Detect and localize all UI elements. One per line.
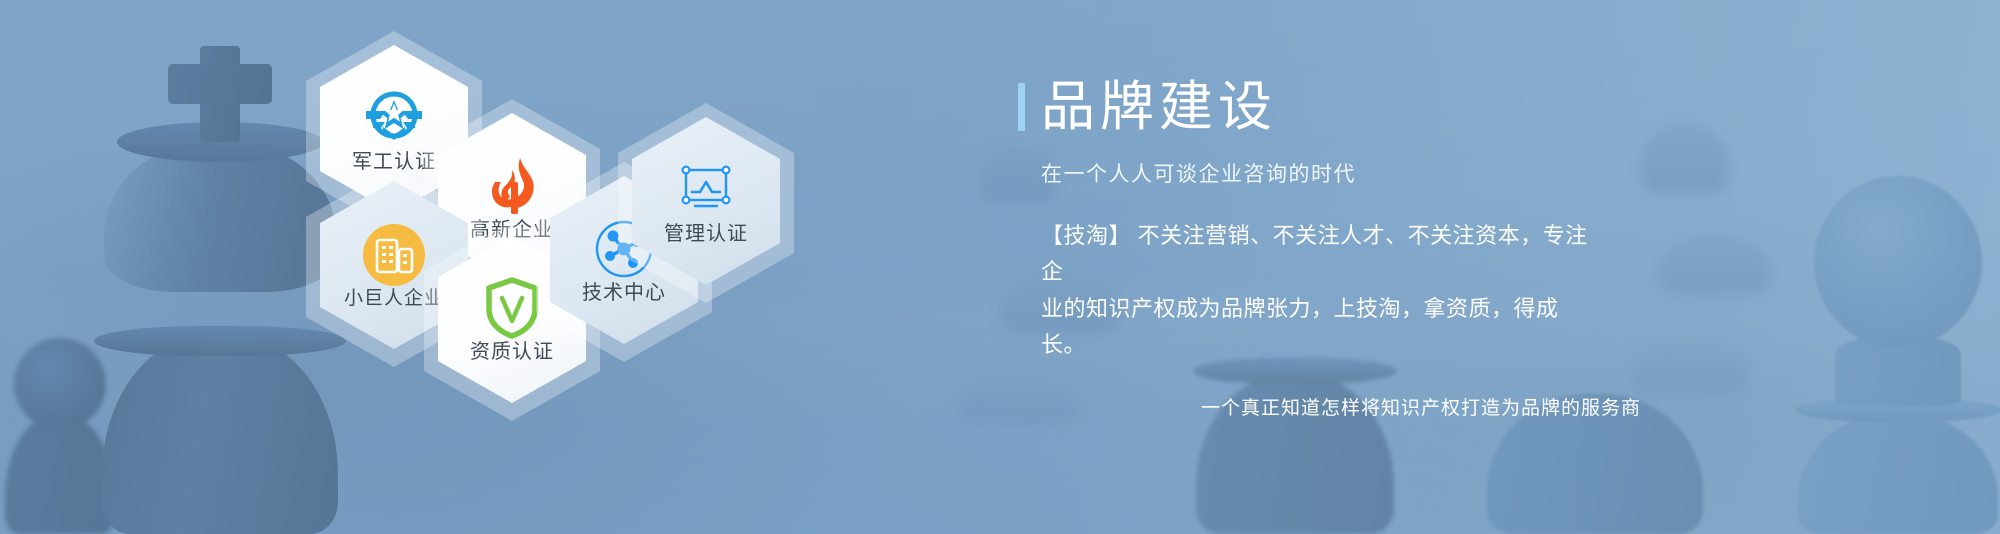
brand-building-banner: 军工认证 高新企业: [0, 0, 2000, 534]
hex-label-qualification: 资质认证: [470, 342, 554, 362]
hex-label-management: 管理认证: [664, 224, 748, 244]
banner-subtitle: 在一个人人可谈企业咨询的时代: [1041, 158, 1938, 188]
title-row: 品牌建设: [1018, 80, 1938, 134]
orange-flame-torch-icon: [480, 154, 544, 218]
banner-tagline: 一个真正知道怎样将知识产权打造为品牌的服务商: [1041, 393, 1641, 420]
certification-hexagon-cluster: 军工认证 高新企业: [0, 0, 940, 534]
banner-text-block: 品牌建设 在一个人人可谈企业咨询的时代 【技淘】 不关注营销、不关注人才、不关注…: [1018, 0, 1938, 420]
green-shield-v-icon: [480, 276, 544, 340]
page-title: 品牌建设: [1041, 80, 1277, 134]
yellow-circle-buildings-icon: [362, 223, 426, 287]
hex-label-tech-center: 技术中心: [582, 283, 666, 303]
body-line-2: 业的知识产权成为品牌张力，上技淘，拿资质，得成长。: [1041, 291, 1601, 364]
body-line-1: 【技淘】 不关注营销、不关注人才、不关注资本，专注企: [1041, 218, 1601, 291]
banner-body-text: 【技淘】 不关注营销、不关注人才、不关注资本，专注企 业的知识产权成为品牌张力，…: [1041, 218, 1601, 363]
title-accent-bar: [1018, 83, 1025, 131]
military-wing-star-emblem-icon: [362, 86, 426, 150]
blue-chart-frame-certificate-icon: [674, 158, 738, 222]
